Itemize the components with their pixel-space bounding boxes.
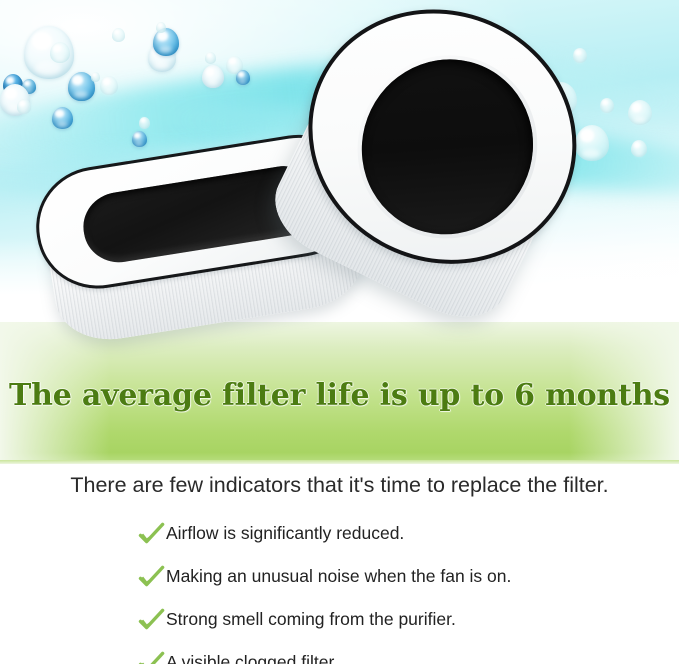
- checkmark-icon: [138, 522, 166, 546]
- checkmark-icon: [138, 651, 166, 664]
- indicators-subtitle: There are few indicators that it's time …: [0, 473, 679, 498]
- indicator-label: A visible clogged filter.: [166, 654, 338, 664]
- banner-headline: The average filter life is up to 6 month…: [0, 378, 679, 413]
- indicator-label: Airflow is significantly reduced.: [166, 525, 404, 543]
- indicator-list: Airflow is significantly reduced.Making …: [138, 512, 658, 664]
- product-marketing-image: The average filter life is up to 6 month…: [0, 0, 679, 664]
- filter-right-top-face: [265, 0, 619, 309]
- checkmark-icon: [138, 608, 166, 632]
- indicator-item: Airflow is significantly reduced.: [138, 512, 658, 555]
- product-filters: [0, 0, 679, 350]
- indicators-section: There are few indicators that it's time …: [0, 464, 679, 664]
- checkmark-icon: [138, 565, 166, 589]
- indicator-item: Making an unusual noise when the fan is …: [138, 555, 658, 598]
- indicator-label: Strong smell coming from the purifier.: [166, 611, 456, 629]
- filter-right-carbon-center: [332, 31, 562, 264]
- indicator-label: Making an unusual noise when the fan is …: [166, 568, 511, 586]
- indicator-item: Strong smell coming from the purifier.: [138, 598, 658, 641]
- indicator-item: A visible clogged filter.: [138, 641, 658, 664]
